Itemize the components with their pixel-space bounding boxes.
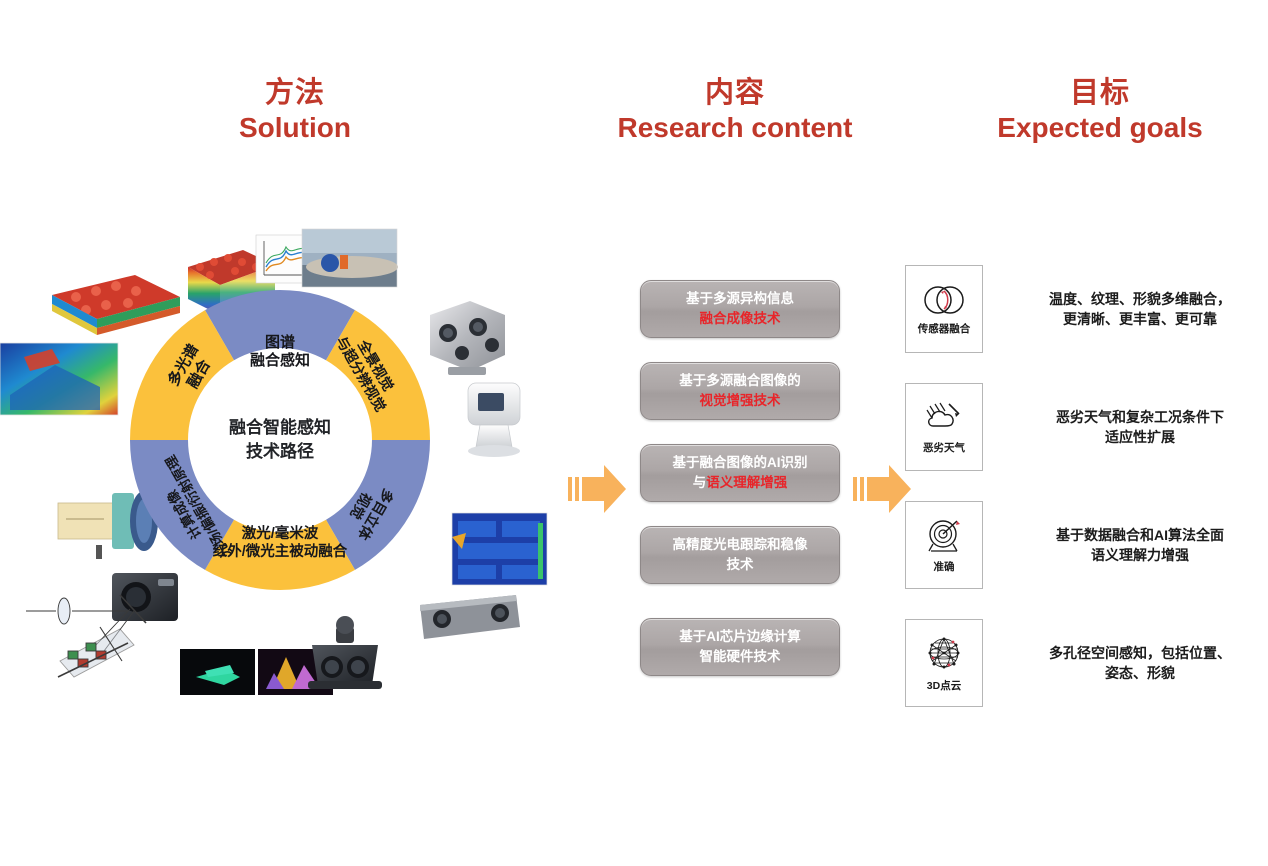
column-headers: 方法 Solution 内容 Research content 目标 Expec… — [0, 0, 1268, 180]
pipeline-photo-thumb — [302, 229, 398, 287]
center-line1: 融合智能感知 — [229, 416, 331, 440]
goal-caption-point-cloud: 3D点云 — [927, 678, 961, 693]
goal-caption-accuracy: 准确 — [934, 559, 955, 574]
goal-text-point-cloud: 多孔径空间感知，包括位置、 姿态、形貌 — [1015, 643, 1265, 684]
eo-turret-thumb — [308, 616, 382, 689]
target-dart-icon — [921, 517, 967, 555]
point-cloud-sphere-icon — [921, 634, 967, 674]
box4-line2: 智能硬件技术 — [700, 649, 781, 664]
header-content-cn: 内容 — [585, 76, 885, 111]
header-content-en: Research content — [585, 111, 885, 145]
goal0-line2: 更清晰、更丰富、更可靠 — [1015, 309, 1265, 329]
box2-prefix: 与 — [693, 475, 707, 490]
goal1-line2: 适应性扩展 — [1015, 427, 1265, 447]
goal-row-sensor-fusion[interactable]: 传感器融合 温度、纹理、形貌多维融合， 更清晰、更丰富、更可靠 — [905, 265, 1265, 353]
header-goals-cn: 目标 — [950, 76, 1250, 111]
arrow-solution-to-content — [566, 460, 628, 523]
goal-row-accuracy[interactable]: 准确 基于数据融合和AI算法全面 语义理解力增强 — [905, 501, 1265, 589]
box1-line1: 基于多源融合图像的 — [679, 373, 801, 388]
rain-cloud-icon — [921, 400, 967, 436]
goal2-line2: 语义理解力增强 — [1015, 545, 1265, 565]
research-box-ai-semantic[interactable]: 基于融合图像的AI识别 与语义理解增强 — [640, 444, 840, 502]
box2-line1: 基于融合图像的AI识别 — [673, 455, 808, 470]
box0-line2: 融合成像技术 — [700, 311, 781, 326]
expected-goals-list: 传感器融合 温度、纹理、形貌多维融合， 更清晰、更丰富、更可靠 恶劣天气 恶劣天… — [905, 265, 1265, 715]
center-line2: 技术路径 — [229, 440, 331, 464]
header-research-content: 内容 Research content — [585, 76, 885, 146]
solution-diagram: 图谱 融合感知 全景视觉 与超分辨视觉 多目立体 视觉 激光/毫米波 红外/微光… — [0, 215, 560, 715]
goal-icon-box-accuracy: 准确 — [905, 501, 983, 589]
header-expected-goals: 目标 Expected goals — [950, 76, 1250, 146]
research-box-eo-tracking[interactable]: 高精度光电跟踪和稳像 技术 — [640, 526, 840, 584]
goal-caption-bad-weather: 恶劣天气 — [923, 440, 965, 455]
thermal-map-thumb — [0, 343, 118, 415]
box2-line2: 语义理解增强 — [706, 475, 787, 490]
box4-line1: 基于AI芯片边缘计算 — [679, 629, 801, 644]
research-box-ai-chip-edge[interactable]: 基于AI芯片边缘计算 智能硬件技术 — [640, 618, 840, 676]
goal-row-point-cloud[interactable]: 3D点云 多孔径空间感知，包括位置、 姿态、形貌 — [905, 619, 1265, 707]
box3-line2: 技术 — [727, 557, 754, 572]
goal-text-accuracy: 基于数据融合和AI算法全面 语义理解力增强 — [1015, 525, 1265, 566]
header-goals-en: Expected goals — [950, 111, 1250, 145]
research-box-visual-enhancement[interactable]: 基于多源融合图像的 视觉增强技术 — [640, 362, 840, 420]
goal0-line1: 温度、纹理、形貌多维融合， — [1015, 289, 1265, 309]
dome-camera-thumb — [468, 383, 520, 457]
research-box-fusion-imaging[interactable]: 基于多源异构信息 融合成像技术 — [640, 280, 840, 338]
box3-line1: 高精度光电跟踪和稳像 — [673, 537, 808, 552]
header-solution: 方法 Solution — [195, 76, 395, 146]
research-content-list: 基于多源异构信息 融合成像技术 基于多源融合图像的 视觉增强技术 基于融合图像的… — [640, 280, 840, 690]
goal1-line1: 恶劣天气和复杂工况条件下 — [1015, 407, 1265, 427]
technology-path-donut: 图谱 融合感知 全景视觉 与超分辨视觉 多目立体 视觉 激光/毫米波 红外/微光… — [130, 290, 430, 590]
goal-caption-sensor-fusion: 传感器融合 — [918, 321, 971, 336]
goal-text-bad-weather: 恶劣天气和复杂工况条件下 适应性扩展 — [1015, 407, 1265, 448]
box0-line1: 基于多源异构信息 — [686, 291, 794, 306]
stereo-bar-thumb — [420, 595, 520, 639]
overlapping-circles-icon — [921, 283, 967, 317]
goal-text-sensor-fusion: 温度、纹理、形貌多维融合， 更清晰、更丰富、更可靠 — [1015, 289, 1265, 330]
donut-center-label: 融合智能感知 技术路径 — [229, 416, 331, 464]
box1-line2: 视觉增强技术 — [700, 393, 781, 408]
header-solution-en: Solution — [195, 111, 395, 145]
goal-icon-box-sensor-fusion: 传感器融合 — [905, 265, 983, 353]
goal-icon-box-point-cloud: 3D点云 — [905, 619, 983, 707]
header-solution-cn: 方法 — [195, 76, 395, 111]
goal-icon-box-bad-weather: 恶劣天气 — [905, 383, 983, 471]
goal-row-bad-weather[interactable]: 恶劣天气 恶劣天气和复杂工况条件下 适应性扩展 — [905, 383, 1265, 471]
depth-map-thumb — [452, 513, 547, 585]
multicam-rig-thumb — [430, 301, 505, 375]
goal2-line1: 基于数据融合和AI算法全面 — [1015, 525, 1265, 545]
goal3-line1: 多孔径空间感知，包括位置、 — [1015, 643, 1265, 663]
arrow-content-to-goals — [851, 460, 913, 523]
goal3-line2: 姿态、形貌 — [1015, 663, 1265, 683]
